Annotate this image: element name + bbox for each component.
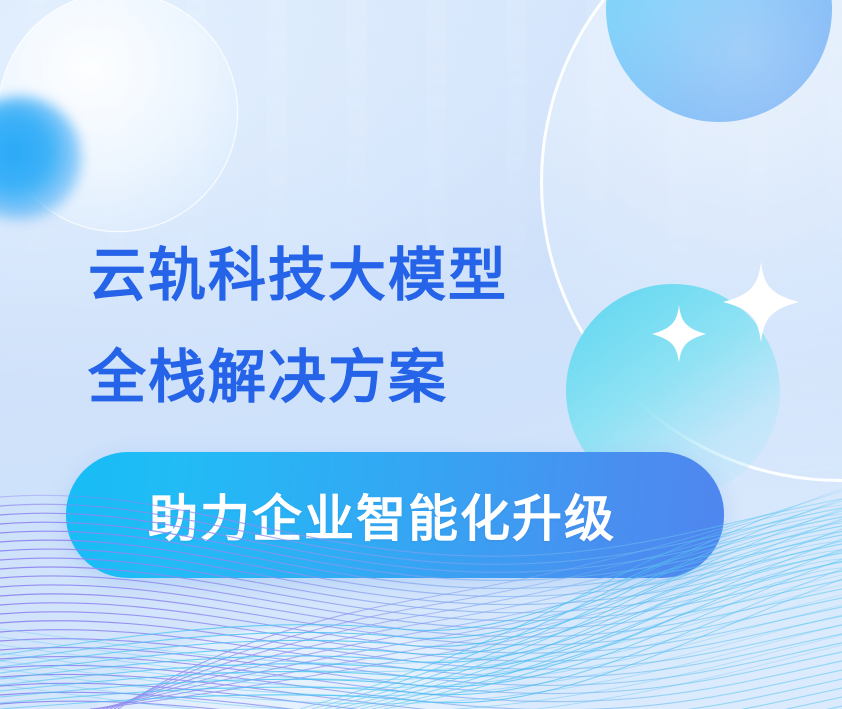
poster-canvas: 云轨科技大模型 全栈解决方案 助力企业智能化升级 <box>0 0 842 709</box>
headline-line-1: 云轨科技大模型 <box>88 225 728 327</box>
headline-line-2: 全栈解决方案 <box>88 327 728 429</box>
page-title: 云轨科技大模型 全栈解决方案 <box>88 225 728 429</box>
wave-lines-decoration <box>0 479 842 709</box>
sparkle-large-icon <box>723 262 799 342</box>
